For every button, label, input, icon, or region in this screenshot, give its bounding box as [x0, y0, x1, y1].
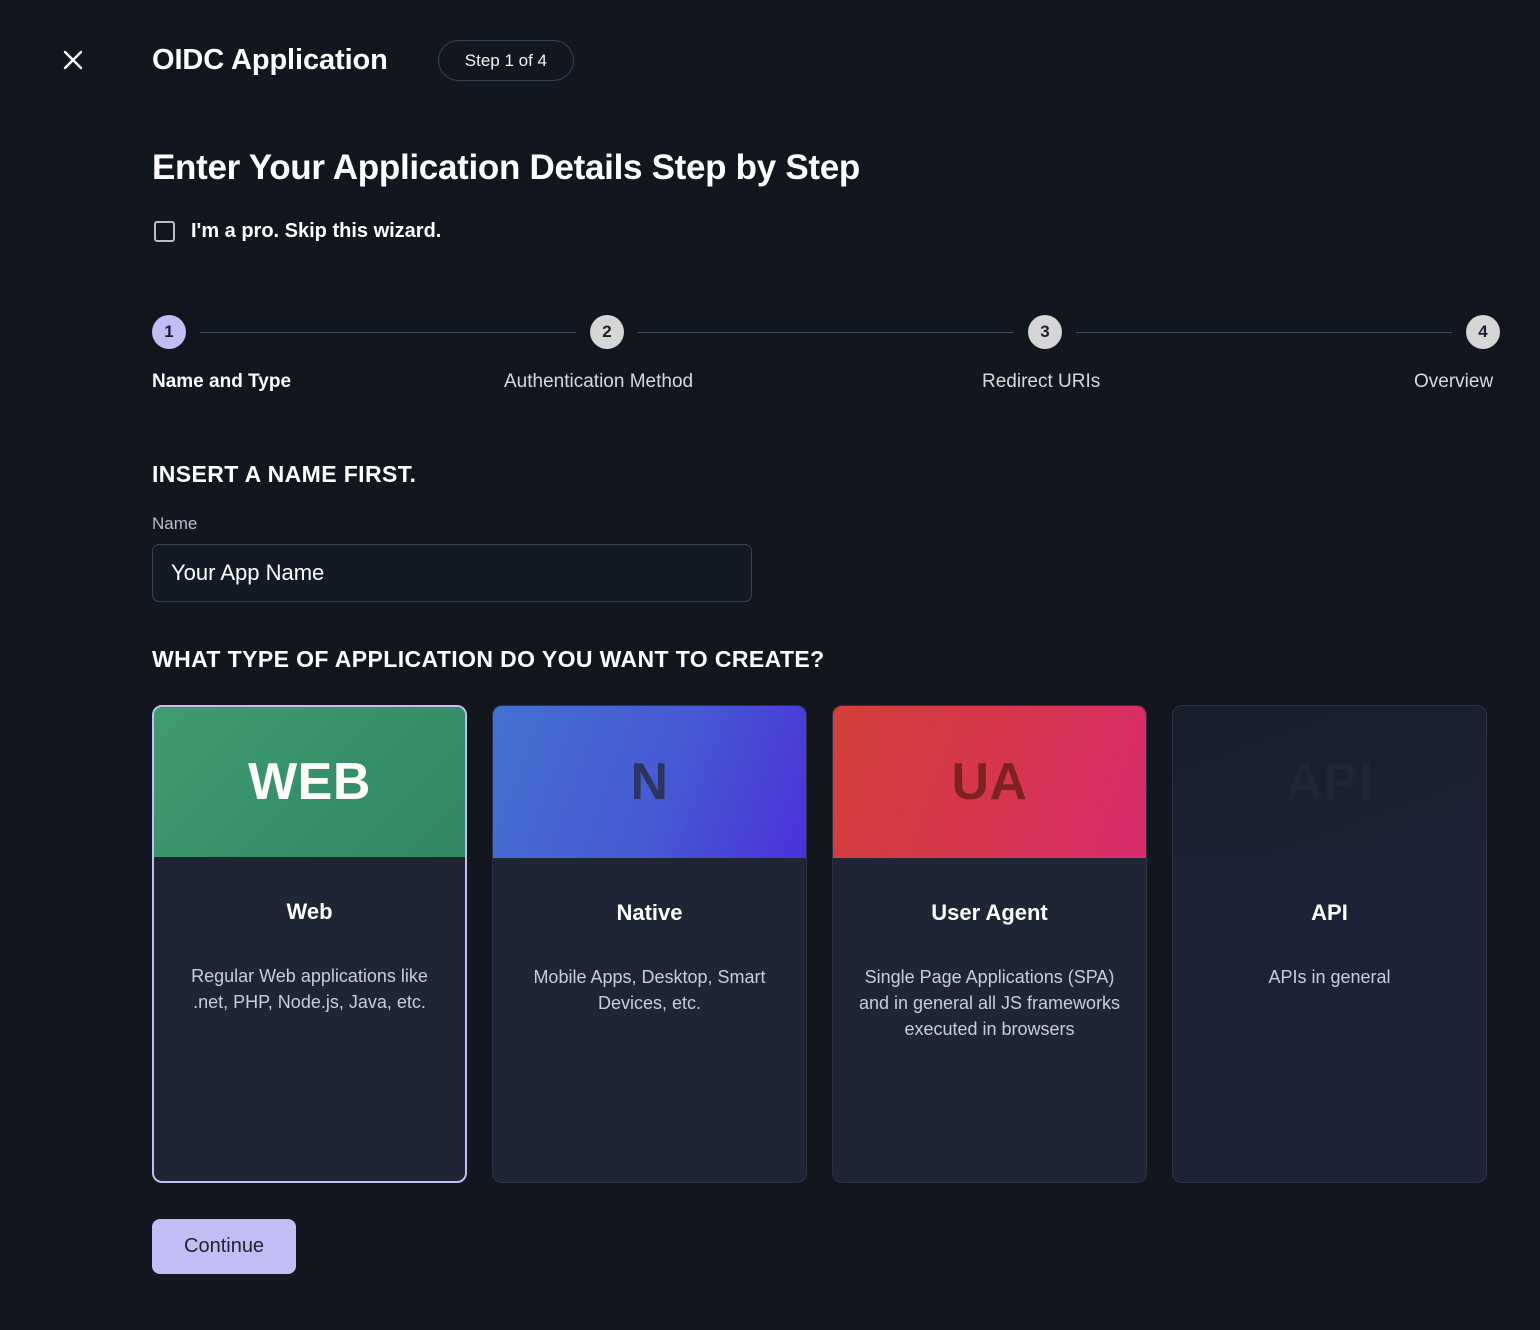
user-agent-card-description: Single Page Applications (SPA) and in ge…	[855, 964, 1124, 1042]
api-badge: API	[1173, 706, 1486, 858]
stepper-label-3: Redirect URIs	[982, 371, 1466, 393]
close-icon[interactable]	[56, 43, 90, 77]
web-badge: WEB	[154, 707, 465, 857]
stepper-circle-4[interactable]: 4	[1466, 315, 1500, 349]
stepper-connector-2	[638, 332, 1014, 333]
dialog-header: OIDC Application Step 1 of 4	[0, 0, 1540, 120]
native-badge: N	[493, 706, 806, 858]
stepper-label-4: Overview	[1414, 371, 1500, 393]
app-title: OIDC Application	[152, 44, 388, 77]
stepper-connector-1	[200, 332, 576, 333]
api-card-body: API APIs in general	[1173, 858, 1486, 1182]
stepper-circle-1[interactable]: 1	[152, 315, 186, 349]
stepper-step-top: 2	[590, 315, 1028, 349]
stepper-circle-3[interactable]: 3	[1028, 315, 1062, 349]
stepper-step-overview[interactable]: 4 Overview	[1466, 315, 1500, 393]
stepper-label-2: Authentication Method	[504, 371, 1028, 393]
name-field-label: Name	[152, 514, 1500, 534]
user-agent-card-body: User Agent Single Page Applications (SPA…	[833, 858, 1146, 1182]
app-type-card-native[interactable]: N Native Mobile Apps, Desktop, Smart Dev…	[492, 705, 807, 1183]
app-type-card-web[interactable]: WEB Web Regular Web applications like .n…	[152, 705, 467, 1183]
type-section-heading: WHAT TYPE OF APPLICATION DO YOU WANT TO …	[152, 646, 1500, 673]
continue-button[interactable]: Continue	[152, 1219, 296, 1274]
native-card-description: Mobile Apps, Desktop, Smart Devices, etc…	[515, 964, 784, 1016]
stepper-step-top: 1	[152, 315, 590, 349]
app-type-card-user-agent[interactable]: UA User Agent Single Page Applications (…	[832, 705, 1147, 1183]
stepper-circle-2[interactable]: 2	[590, 315, 624, 349]
stepper-step-authentication-method[interactable]: 2 Authentication Method	[590, 315, 1028, 393]
skip-wizard-row[interactable]: I'm a pro. Skip this wizard.	[154, 220, 1500, 243]
web-card-body: Web Regular Web applications like .net, …	[154, 857, 465, 1181]
skip-wizard-checkbox[interactable]	[154, 221, 175, 242]
web-card-description: Regular Web applications like .net, PHP,…	[176, 963, 443, 1015]
skip-wizard-label[interactable]: I'm a pro. Skip this wizard.	[191, 220, 441, 243]
page-title: Enter Your Application Details Step by S…	[152, 148, 1500, 188]
stepper-connector-3	[1076, 332, 1452, 333]
wizard-stepper: 1 Name and Type 2 Authentication Method …	[152, 315, 1500, 393]
step-badge: Step 1 of 4	[438, 40, 574, 81]
native-card-body: Native Mobile Apps, Desktop, Smart Devic…	[493, 858, 806, 1182]
user-agent-card-title: User Agent	[855, 900, 1124, 926]
web-card-title: Web	[176, 899, 443, 925]
native-card-title: Native	[515, 900, 784, 926]
stepper-step-redirect-uris[interactable]: 3 Redirect URIs	[1028, 315, 1466, 393]
api-card-description: APIs in general	[1195, 964, 1464, 990]
name-section-heading: INSERT A NAME FIRST.	[152, 461, 1500, 488]
user-agent-badge: UA	[833, 706, 1146, 858]
app-type-card-api[interactable]: API API APIs in general	[1172, 705, 1487, 1183]
api-card-title: API	[1195, 900, 1464, 926]
application-type-cards: WEB Web Regular Web applications like .n…	[152, 705, 1500, 1183]
app-name-input[interactable]	[152, 544, 752, 602]
stepper-step-top: 3	[1028, 315, 1466, 349]
dialog-body: Enter Your Application Details Step by S…	[0, 148, 1540, 1274]
stepper-step-top: 4	[1466, 315, 1500, 349]
